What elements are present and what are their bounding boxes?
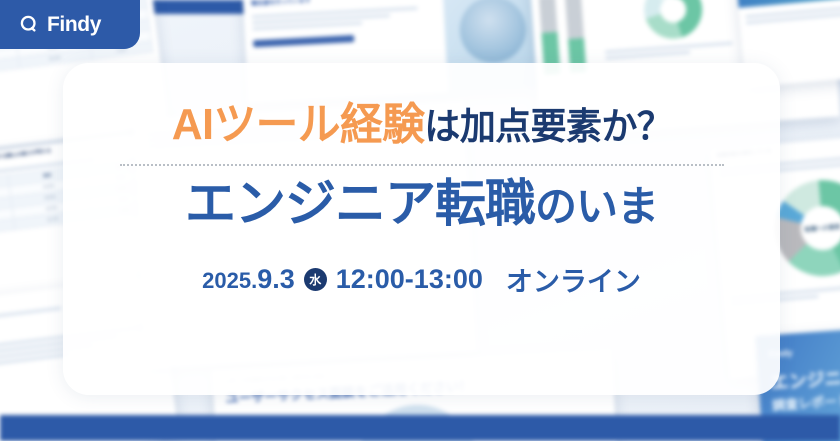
- deco-donut-chart: [642, 0, 704, 41]
- deco-bottom-bar: [0, 415, 840, 441]
- event-date: 2025.9.3: [202, 264, 295, 295]
- event-weekday-badge: 水: [304, 268, 327, 291]
- headline-rest: は加点要素か？: [424, 106, 672, 147]
- brand-name: Findy: [47, 14, 101, 35]
- event-year: 2025.: [202, 268, 257, 293]
- deco-cover-title: エンジニア: [770, 359, 840, 395]
- headline-block: AIツール経験は加点要素か？ エンジニア転職のいま 2025.9.3 水 12:…: [63, 63, 780, 395]
- findy-magnifier-icon: [19, 14, 40, 35]
- headline-line2-tail: のいま: [535, 183, 658, 230]
- deco-donut-center-label: 転職への意欲: [804, 222, 840, 234]
- deco-donut-chart: 転職への意欲: [771, 176, 840, 280]
- brand-banner[interactable]: Findy: [0, 0, 140, 49]
- headline-line-1: AIツール経験は加点要素か？: [171, 103, 672, 147]
- headline-line-2: エンジニア転職のいま: [185, 178, 658, 229]
- dotted-divider: [120, 164, 724, 166]
- event-daymonth: 9.3: [257, 264, 295, 294]
- headline-highlight: AIツール経験: [171, 100, 424, 149]
- webinar-banner: 1年以上のエンジニアが多い ABC 41.3%12.1%8.4% 33.7%19…: [0, 0, 840, 441]
- event-meta: 2025.9.3 水 12:00-13:00 オンライン: [202, 260, 641, 299]
- event-time: 12:00-13:00: [336, 264, 483, 295]
- event-format: オンライン: [506, 260, 641, 299]
- deco-person-photo: [458, 0, 527, 64]
- headline-line2-main: エンジニア転職: [185, 175, 535, 232]
